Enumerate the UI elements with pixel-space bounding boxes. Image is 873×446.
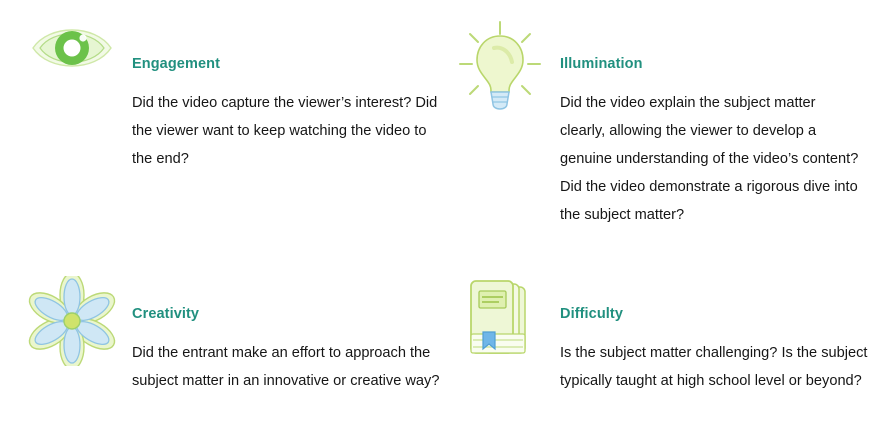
criterion-text-difficulty: Is the subject matter challenging? Is th… (560, 339, 870, 395)
criterion-title-illumination: Illumination (560, 56, 864, 73)
criterion-title-engagement: Engagement (132, 56, 444, 73)
flower-icon (24, 276, 120, 372)
lightbulb-icon (452, 16, 548, 112)
criterion-body-illumination: Illumination Did the video explain the s… (560, 18, 864, 229)
criterion-body-creativity: Creativity Did the entrant make an effor… (132, 268, 444, 395)
criterion-title-creativity: Creativity (132, 306, 444, 323)
criteria-grid: Engagement Did the video capture the vie… (0, 0, 873, 446)
criterion-title-difficulty: Difficulty (560, 306, 864, 323)
criterion-body-difficulty: Difficulty Is the subject matter challen… (560, 268, 864, 395)
eye-icon (24, 18, 120, 114)
books-icon (452, 278, 548, 374)
criterion-body-engagement: Engagement Did the video capture the vie… (132, 18, 444, 173)
criterion-text-illumination: Did the video explain the subject matter… (560, 89, 860, 229)
criterion-text-creativity: Did the entrant make an effort to approa… (132, 339, 442, 395)
criterion-text-engagement: Did the video capture the viewer’s inter… (132, 89, 442, 173)
